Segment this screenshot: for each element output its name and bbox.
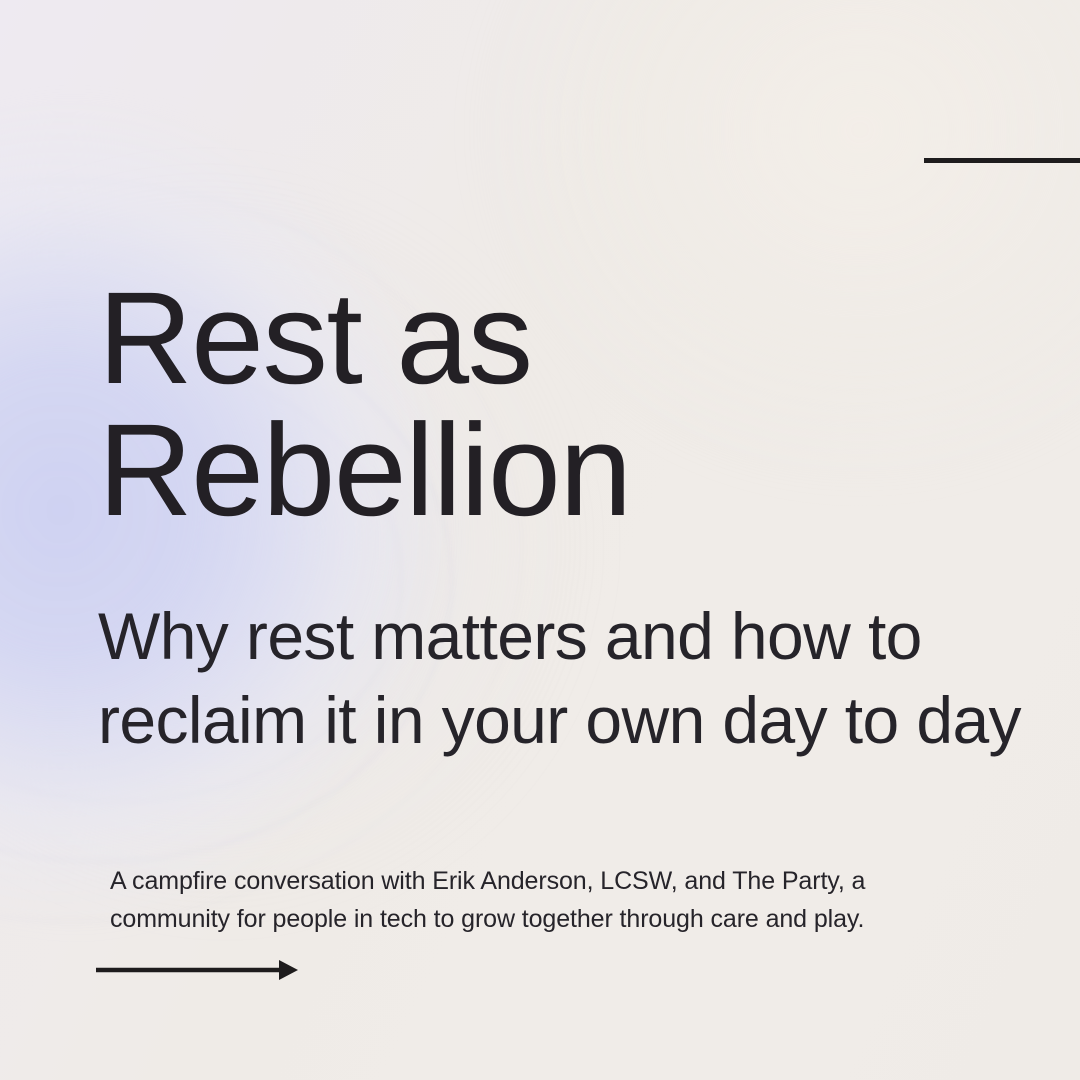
swipe-arrow bbox=[95, 952, 305, 988]
promo-slide: Rest as Rebellion Why rest matters and h… bbox=[0, 0, 1080, 1080]
page-subtitle: Why rest matters and how to reclaim it i… bbox=[98, 594, 1058, 762]
arrow-right-icon bbox=[95, 952, 305, 988]
page-description: A campfire conversation with Erik Anders… bbox=[110, 862, 1030, 938]
page-title: Rest as Rebellion bbox=[98, 272, 998, 536]
top-right-rule bbox=[924, 158, 1080, 163]
